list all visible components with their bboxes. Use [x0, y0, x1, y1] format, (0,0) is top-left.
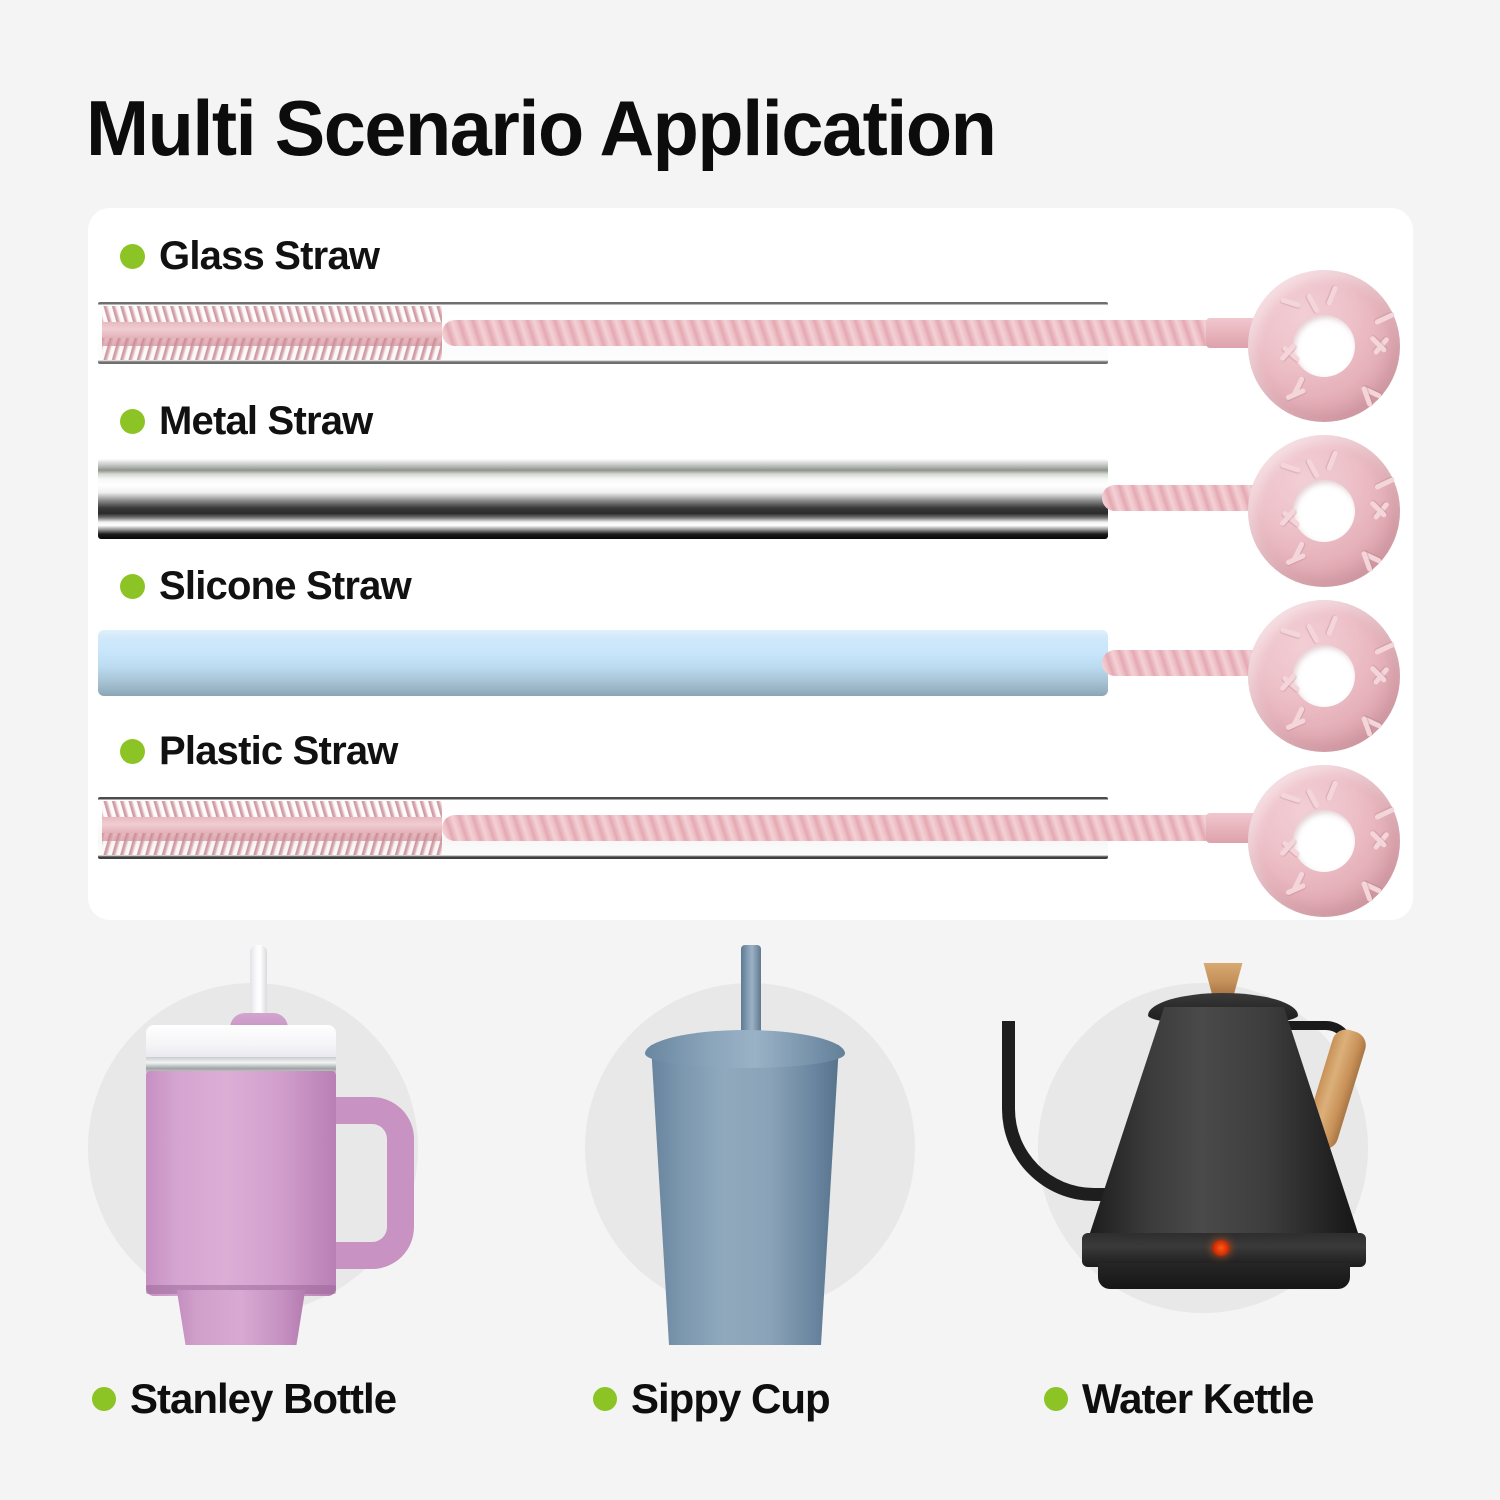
scenario-caption-text: Sippy Cup: [631, 1375, 830, 1423]
kettle-cork-knob: [1196, 963, 1250, 995]
donut-hole: [1293, 480, 1355, 542]
sprinkle: [1280, 462, 1302, 473]
sprinkle: [1326, 450, 1339, 471]
sprinkle: [1326, 615, 1339, 636]
straw-label-text: Metal Straw: [159, 399, 373, 444]
cup-lid: [645, 1030, 845, 1068]
scenario-water-kettle: Water Kettle: [1000, 945, 1420, 1445]
sprinkle: [1374, 477, 1395, 490]
green-dot-icon: [120, 574, 145, 599]
brush-shaft: [1102, 650, 1266, 676]
bottle-lid: [146, 1025, 336, 1061]
straw-label-glass: Glass Straw: [120, 230, 379, 282]
green-dot-icon: [120, 739, 145, 764]
green-dot-icon: [1044, 1387, 1068, 1411]
scenario-caption-text: Water Kettle: [1082, 1375, 1314, 1423]
straw-types-card: Glass Straw: [88, 208, 1413, 920]
donut-hole: [1293, 315, 1355, 377]
sprinkle: [1306, 623, 1320, 644]
donut-handle-icon: [1248, 270, 1400, 422]
brush-bristles: [102, 801, 442, 855]
metal-tube: [98, 459, 1108, 539]
bottle-taper: [168, 1290, 314, 1345]
stanley-bottle-illustration: [78, 945, 498, 1345]
brush-core: [102, 322, 442, 346]
donut-handle-icon: [1248, 600, 1400, 752]
sippy-cup-illustration: [545, 945, 965, 1345]
sprinkle: [1374, 312, 1395, 325]
straw-illustration-silicone: [88, 618, 1413, 728]
scenario-caption-text: Stanley Bottle: [130, 1375, 396, 1423]
brush-bristles: [102, 306, 442, 360]
kettle-foot: [1098, 1263, 1350, 1289]
straw-label-metal: Metal Straw: [120, 395, 373, 447]
sprinkle: [1326, 285, 1339, 306]
scenario-caption-kettle: Water Kettle: [1044, 1375, 1314, 1423]
straw-label-silicone: Slicone Straw: [120, 560, 411, 612]
green-dot-icon: [120, 409, 145, 434]
sprinkle: [1280, 297, 1302, 308]
scenario-caption-stanley: Stanley Bottle: [92, 1375, 396, 1423]
green-dot-icon: [92, 1387, 116, 1411]
straw-label-text: Glass Straw: [159, 234, 379, 279]
scenario-sippy-cup: Sippy Cup: [545, 945, 965, 1445]
sprinkle: [1306, 788, 1320, 809]
donut-handle-icon: [1248, 435, 1400, 587]
donut-hole: [1293, 810, 1355, 872]
sprinkle: [1374, 642, 1395, 655]
sprinkle: [1280, 792, 1302, 803]
straw-illustration-plastic: [88, 783, 1413, 893]
sprinkle: [1306, 293, 1320, 314]
sprinkle: [1306, 458, 1320, 479]
straw-illustration-glass: [88, 288, 1413, 398]
brush-core: [102, 817, 442, 841]
green-dot-icon: [593, 1387, 617, 1411]
scenario-caption-sippy: Sippy Cup: [593, 1375, 830, 1423]
straw-label-plastic: Plastic Straw: [120, 725, 398, 777]
sprinkle: [1374, 807, 1395, 820]
donut-handle-icon: [1248, 765, 1400, 917]
water-kettle-illustration: [1000, 945, 1420, 1345]
brush-shaft: [1102, 485, 1266, 511]
straw-label-text: Plastic Straw: [159, 729, 398, 774]
kettle-gooseneck-spout: [1002, 1021, 1114, 1201]
infographic-page: Multi Scenario Application Glass Straw: [0, 0, 1500, 1500]
brush-shaft: [442, 815, 1218, 841]
cup-body: [645, 1045, 845, 1345]
donut-hole: [1293, 645, 1355, 707]
page-title: Multi Scenario Application: [86, 88, 995, 170]
silicone-tube: [98, 630, 1108, 696]
sprinkle: [1280, 627, 1302, 638]
bottle-body: [146, 1071, 336, 1296]
scenario-gallery: Stanley Bottle Sippy Cup: [0, 945, 1500, 1445]
cup-straw: [741, 945, 761, 1043]
scenario-stanley-bottle: Stanley Bottle: [78, 945, 498, 1445]
green-dot-icon: [120, 244, 145, 269]
brush-shaft: [442, 320, 1218, 346]
straw-illustration-metal: [88, 453, 1413, 563]
straw-label-text: Slicone Straw: [159, 564, 411, 609]
kettle-power-indicator: [1212, 1240, 1230, 1256]
sprinkle: [1326, 780, 1339, 801]
